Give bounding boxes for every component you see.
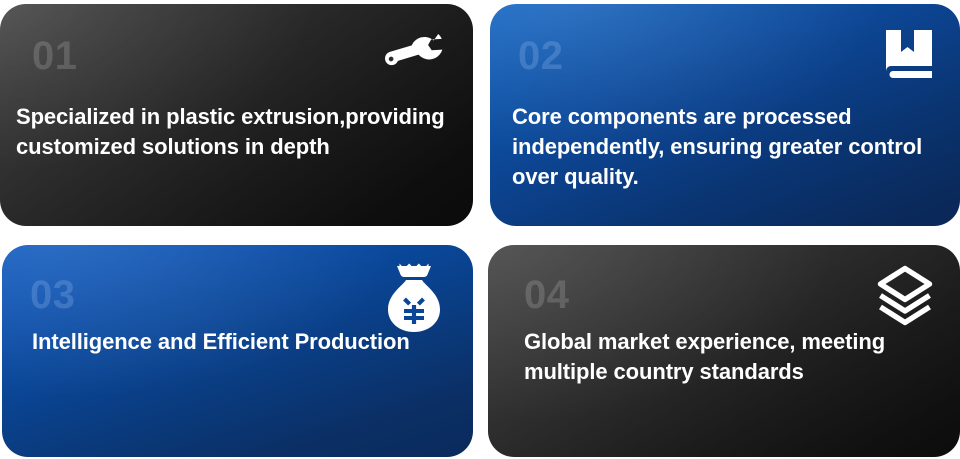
card-inner: 03 Intelligence and Efficient Production [2, 245, 473, 457]
card-description: Global market experience, meeting multip… [524, 327, 924, 387]
book-bookmark-icon [882, 26, 940, 84]
card-description: Specialized in plastic extrusion,providi… [16, 102, 448, 162]
feature-card-04[interactable]: 04 Global market experience, meeting mul… [488, 245, 960, 457]
card-inner: 04 Global market experience, meeting mul… [488, 245, 960, 457]
card-number: 01 [32, 36, 78, 76]
card-number: 02 [518, 36, 564, 76]
card-number: 03 [30, 275, 76, 315]
feature-card-grid: 01 Specialized in plastic extrusion,prov… [0, 0, 960, 459]
money-bag-yen-icon [378, 258, 450, 336]
wrench-icon [383, 26, 447, 90]
card-inner: 02 Core components are processed indepen… [490, 4, 960, 226]
card-description: Core components are processed independen… [512, 102, 952, 192]
card-number: 04 [524, 275, 570, 315]
card-inner: 01 Specialized in plastic extrusion,prov… [0, 4, 473, 226]
feature-card-02[interactable]: 02 Core components are processed indepen… [490, 4, 960, 226]
feature-card-01[interactable]: 01 Specialized in plastic extrusion,prov… [0, 4, 473, 226]
feature-card-03[interactable]: 03 Intelligence and Efficient Production [2, 245, 473, 457]
layers-stack-icon [871, 263, 939, 329]
